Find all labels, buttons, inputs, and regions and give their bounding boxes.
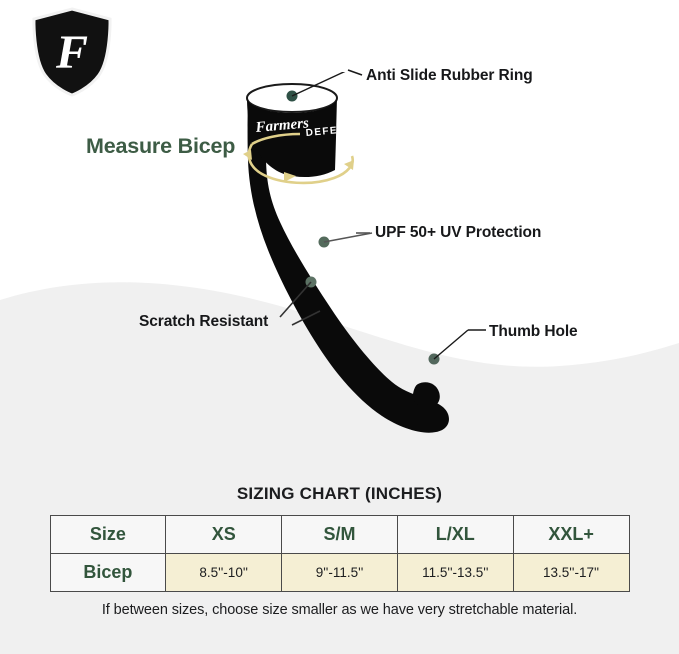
table-header-xxl: XXL+ [513,516,629,554]
leader-line-thumb [434,330,468,359]
sizing-chart-title: SIZING CHART (INCHES) [0,484,679,504]
leader-line-upf [324,233,372,242]
table-cell-bicep-xxl: 13.5''-17'' [513,554,629,592]
sizing-chart-note: If between sizes, choose size smaller as… [0,602,679,618]
measure-bicep-label: Measure Bicep [86,134,235,159]
svg-text:F: F [55,26,88,79]
table-header-lxl: L/XL [397,516,513,554]
callout-label-upf-uv-protection: UPF 50+ UV Protection [375,224,541,242]
table-header-size: Size [50,516,166,554]
table-header-row: Size XS S/M L/XL XXL+ [50,516,629,554]
table-row-label-bicep: Bicep [50,554,166,592]
arm-sleeve-illustration: Farmers DEFENSE [240,72,510,442]
callout-label-scratch-resistant: Scratch Resistant [139,313,268,331]
sizing-chart-table: Size XS S/M L/XL XXL+ Bicep 8.5''-10'' 9… [50,515,630,592]
table-cell-bicep-xs: 8.5''-10'' [166,554,282,592]
table-row: Bicep 8.5''-10'' 9''-11.5'' 11.5''-13.5'… [50,554,629,592]
infographic-canvas: F Farmers DEFENSE [0,0,679,654]
table-header-xs: XS [166,516,282,554]
brand-shield-logo-icon: F [27,6,117,98]
table-cell-bicep-lxl: 11.5''-13.5'' [397,554,513,592]
callout-label-anti-slide-rubber-ring: Anti Slide Rubber Ring [366,67,533,85]
table-header-sm: S/M [282,516,398,554]
sizing-chart-section: SIZING CHART (INCHES) Size XS S/M L/XL X… [0,484,679,618]
callout-label-thumb-hole: Thumb Hole [489,323,578,341]
thumb-hole-bump-shape [413,382,440,408]
table-cell-bicep-sm: 9''-11.5'' [282,554,398,592]
